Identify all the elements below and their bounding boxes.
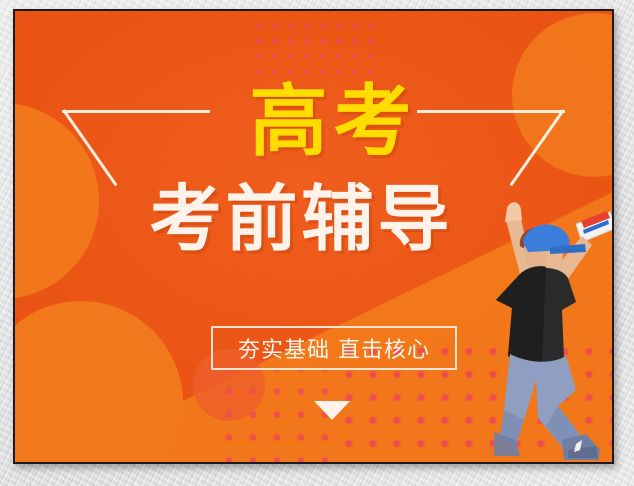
subtitle-box: 夯实基础 直击核心 xyxy=(211,326,457,370)
chevron-down-icon xyxy=(310,398,354,424)
page-backdrop: 高考 考前辅导 夯实基础 直击核心 xyxy=(0,0,634,486)
poster-canvas: 高考 考前辅导 夯实基础 直击核心 xyxy=(15,11,612,462)
jumping-student-illustration xyxy=(450,194,612,462)
poster-frame: 高考 考前辅导 夯实基础 直击核心 xyxy=(13,9,614,464)
dot-grid-top-icon xyxy=(248,15,376,81)
circle-bottom-left-shape xyxy=(15,301,183,462)
subtitle-text: 夯实基础 直击核心 xyxy=(238,332,430,364)
page-title-primary: 高考 xyxy=(15,83,612,161)
